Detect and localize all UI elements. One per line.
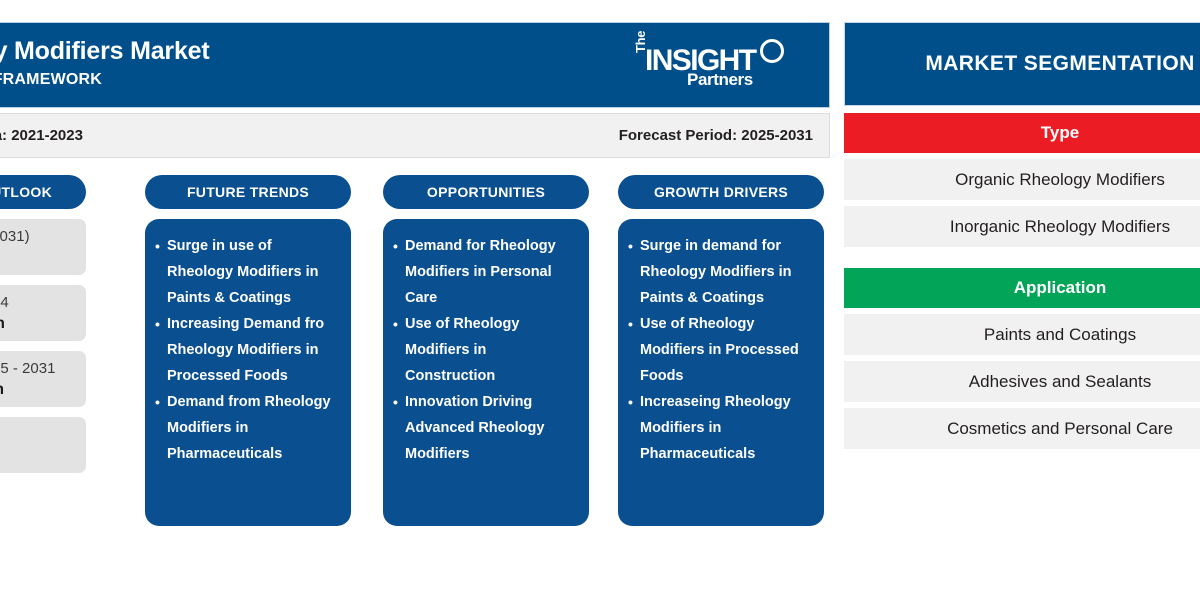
list-item: Innovation Driving Advanced Rheology Mod… (393, 389, 577, 467)
historical-data-label: Historical Data: 2021-2023 (0, 127, 83, 144)
list-item: Use of Rheology Modifiers in Constructio… (393, 311, 577, 389)
title-bar: Rheology Modifiers Market STRATEGIC FRAM… (0, 22, 830, 108)
market-segmentation-panel: MARKET SEGMENTATION Type Organic Rheolog… (844, 22, 1200, 449)
column-future-trends: FUTURE TRENDS Surge in use of Rheology M… (145, 175, 351, 526)
future-trends-box: Surge in use of Rheology Modifiers in Pa… (145, 219, 351, 526)
page-subtitle: STRATEGIC FRAMEWORK (0, 71, 102, 89)
segmentation-spacer (844, 247, 1200, 261)
segmentation-item: Inorganic Rheology Modifiers (844, 206, 1200, 247)
pill-market-outlook: MARKET OUTLOOK (0, 175, 86, 209)
main-panel: Rheology Modifiers Market STRATEGIC FRAM… (0, 22, 830, 542)
stat-label: Study Period (0, 424, 74, 445)
list-item: Increaseing Rheology Modifiers in Pharma… (628, 389, 812, 467)
segmentation-category-type: Type (844, 113, 1200, 153)
page-title: Rheology Modifiers Market (0, 37, 210, 66)
logo-partners-text: Partners (687, 70, 753, 90)
growth-drivers-box: Surge in demand for Rheology Modifiers i… (618, 219, 824, 526)
list-item: Surge in demand for Rheology Modifiers i… (628, 233, 812, 311)
stat-label: Market Size 2025 - 2031 (0, 358, 74, 379)
insight-partners-logo: The INSIGHT Partners (631, 36, 791, 96)
list-item: Increasing Demand fro Rheology Modifiers… (155, 311, 339, 389)
stat-card-market-size-2024: Market Size 2024 US$ XX million (0, 285, 86, 341)
list-item: Demand from Rheology Modifiers in Pharma… (155, 389, 339, 467)
stat-label: Market Size 2024 (0, 292, 74, 313)
stat-value: 2021-2023 (0, 445, 74, 467)
stat-value: US$ XX Million (0, 379, 74, 401)
segmentation-item: Organic Rheology Modifiers (844, 159, 1200, 200)
stat-card-cagr: CAGR (2025 - 2031) X.X% (0, 219, 86, 275)
stat-value: X.X% (0, 247, 74, 269)
infographic-page: Rheology Modifiers Market STRATEGIC FRAM… (0, 0, 1200, 600)
list-item: Demand for Rheology Modifiers in Persona… (393, 233, 577, 311)
list-item: Surge in use of Rheology Modifiers in Pa… (155, 233, 339, 311)
forecast-period-label: Forecast Period: 2025-2031 (619, 127, 813, 144)
pill-opportunities: OPPORTUNITIES (383, 175, 589, 209)
stat-card-market-size-forecast: Market Size 2025 - 2031 US$ XX Million (0, 351, 86, 407)
segmentation-item: Paints and Coatings (844, 314, 1200, 355)
data-period-strip: Historical Data: 2021-2023 Forecast Peri… (0, 113, 830, 158)
column-market-outlook: MARKET OUTLOOK CAGR (2025 - 2031) X.X% M… (0, 175, 86, 473)
segmentation-title: MARKET SEGMENTATION (844, 22, 1200, 106)
list-item: Use of Rheology Modifiers in Processed F… (628, 311, 812, 389)
segmentation-category-application: Application (844, 268, 1200, 308)
stat-label: CAGR (2025 - 2031) (0, 226, 74, 247)
pill-future-trends: FUTURE TRENDS (145, 175, 351, 209)
logo-bubble-icon (760, 39, 784, 63)
pill-growth-drivers: GROWTH DRIVERS (618, 175, 824, 209)
column-growth-drivers: GROWTH DRIVERS Surge in demand for Rheol… (618, 175, 824, 526)
segmentation-item: Adhesives and Sealants (844, 361, 1200, 402)
stat-value: US$ XX million (0, 313, 74, 335)
opportunities-box: Demand for Rheology Modifiers in Persona… (383, 219, 589, 526)
stat-card-study-period: Study Period 2021-2023 (0, 417, 86, 473)
column-opportunities: OPPORTUNITIES Demand for Rheology Modifi… (383, 175, 589, 526)
segmentation-item: Cosmetics and Personal Care (844, 408, 1200, 449)
